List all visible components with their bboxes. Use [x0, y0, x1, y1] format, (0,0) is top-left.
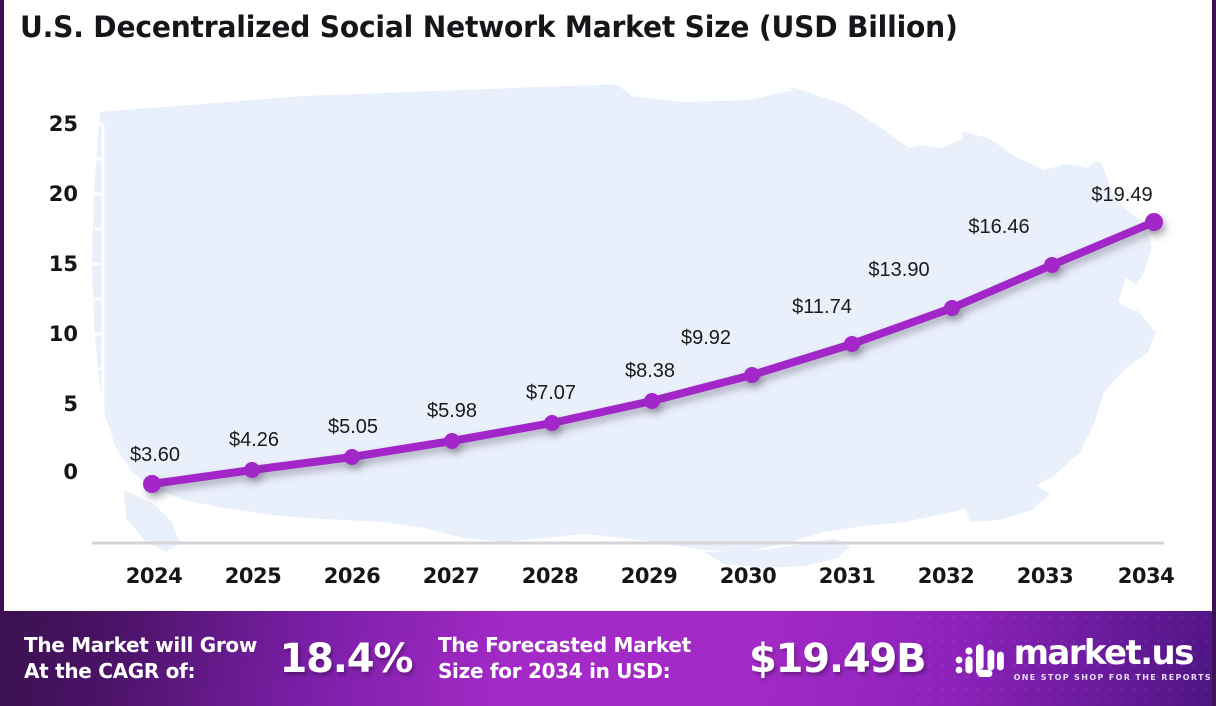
data-marker — [1044, 257, 1060, 273]
data-point-label: $4.26 — [229, 429, 279, 452]
summary-banner: The Market will Grow At the CAGR of: 18.… — [4, 611, 1212, 706]
cagr-caption-line1: The Market will Grow — [24, 633, 279, 659]
data-marker — [944, 300, 960, 316]
y-tick-label: 0 — [18, 460, 78, 484]
chart-plot-area: 0 5 10 15 20 25 2024 2025 2026 2027 2028… — [4, 52, 1212, 605]
data-marker — [1145, 213, 1163, 231]
y-tick-label: 15 — [18, 252, 78, 276]
logo-wordmark: market.us — [1014, 636, 1212, 670]
data-point-label: $3.60 — [130, 444, 180, 467]
data-point-label: $16.46 — [968, 216, 1029, 239]
data-marker — [844, 336, 860, 352]
data-marker — [244, 462, 260, 478]
y-tick-label: 25 — [18, 112, 78, 136]
infographic-card: U.S. Decentralized Social Network Market… — [0, 0, 1216, 706]
forecast-caption-line1: The Forecasted Market — [438, 633, 743, 659]
x-tick-label: 2025 — [203, 564, 303, 588]
y-tick-label: 20 — [18, 182, 78, 206]
x-tick-label: 2024 — [104, 564, 204, 588]
cagr-caption-line2: At the CAGR of: — [24, 659, 279, 685]
forecast-caption: The Forecasted Market Size for 2034 in U… — [438, 633, 743, 684]
x-tick-label: 2034 — [1096, 564, 1196, 588]
data-line — [152, 222, 1154, 484]
data-marker — [344, 449, 360, 465]
data-markers — [143, 213, 1163, 493]
chart-svg — [4, 52, 1212, 605]
y-tick-label: 10 — [18, 322, 78, 346]
data-point-label: $5.05 — [328, 416, 378, 439]
x-tick-label: 2029 — [599, 564, 699, 588]
data-marker — [544, 415, 560, 431]
logo-tagline: ONE STOP SHOP FOR THE REPORTS — [1014, 673, 1212, 682]
data-point-label: $9.92 — [681, 327, 731, 350]
data-marker — [444, 433, 460, 449]
data-marker — [744, 367, 760, 383]
x-tick-label: 2030 — [698, 564, 798, 588]
y-axis-ticks — [91, 124, 103, 472]
x-tick-label: 2033 — [995, 564, 1095, 588]
cagr-caption: The Market will Grow At the CAGR of: — [24, 633, 279, 684]
x-tick-label: 2028 — [500, 564, 600, 588]
x-tick-label: 2026 — [302, 564, 402, 588]
x-tick-label: 2027 — [401, 564, 501, 588]
data-point-label: $8.38 — [625, 360, 675, 383]
forecast-value: $19.49B — [749, 636, 940, 682]
y-tick-label: 5 — [18, 392, 78, 416]
cagr-value: 18.4% — [279, 636, 432, 682]
data-point-label: $19.49 — [1091, 184, 1152, 207]
data-point-label: $13.90 — [868, 259, 929, 282]
forecast-caption-line2: Size for 2034 in USD: — [438, 659, 743, 685]
x-tick-label: 2031 — [797, 564, 897, 588]
data-point-label: $5.98 — [427, 400, 477, 423]
data-marker — [644, 393, 660, 409]
data-point-label: $7.07 — [526, 382, 576, 405]
market-us-logo-icon — [954, 639, 1006, 679]
data-marker — [143, 475, 161, 493]
page-title: U.S. Decentralized Social Network Market… — [20, 10, 1087, 44]
market-us-logo[interactable]: market.us ONE STOP SHOP FOR THE REPORTS — [954, 636, 1212, 682]
x-tick-label: 2032 — [896, 564, 996, 588]
market-us-logo-text: market.us ONE STOP SHOP FOR THE REPORTS — [1014, 636, 1212, 682]
data-point-label: $11.74 — [792, 296, 852, 319]
